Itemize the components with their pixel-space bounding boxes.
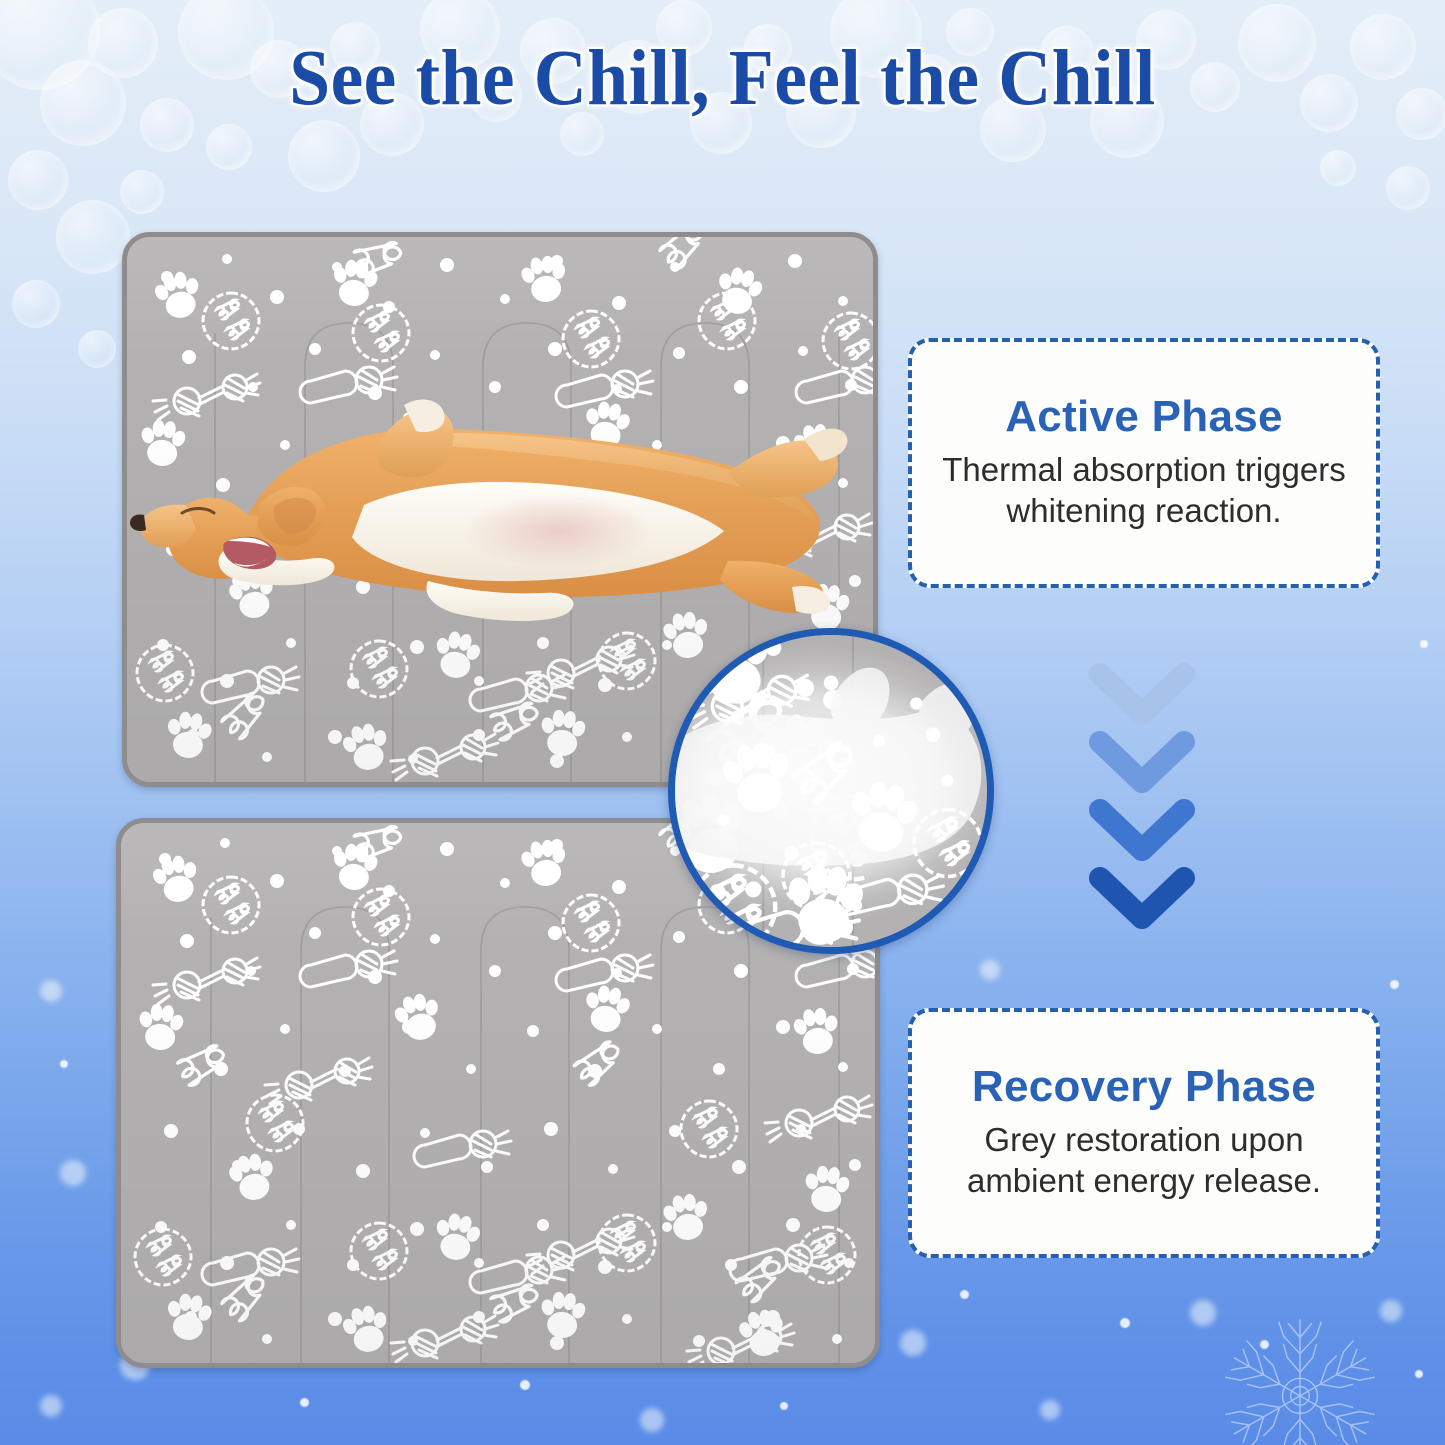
card-active-phase: Active Phase Thermal absorption triggers…	[908, 338, 1380, 588]
chevron-down-icon-4	[1100, 878, 1184, 918]
card-recovery-phase: Recovery Phase Grey restoration upon amb…	[908, 1008, 1380, 1258]
snowflake-icon	[1150, 1285, 1445, 1445]
card-active-heading: Active Phase	[1005, 394, 1283, 440]
magnifier-circle	[668, 628, 994, 954]
chevron-down-icon-2	[1100, 742, 1184, 782]
chevron-down-icon-1	[1100, 674, 1184, 714]
whitening-glow	[668, 628, 994, 954]
chevron-down-icon-3	[1100, 810, 1184, 850]
flow-chevrons	[1072, 662, 1212, 942]
card-active-body: Thermal absorption triggers whitening re…	[932, 450, 1356, 532]
page-title: See the Chill, Feel the Chill	[51, 34, 1395, 124]
infographic-canvas: See the Chill, Feel the Chill	[0, 0, 1445, 1445]
card-recovery-body: Grey restoration upon ambient energy rel…	[932, 1120, 1356, 1202]
card-recovery-heading: Recovery Phase	[972, 1064, 1316, 1110]
